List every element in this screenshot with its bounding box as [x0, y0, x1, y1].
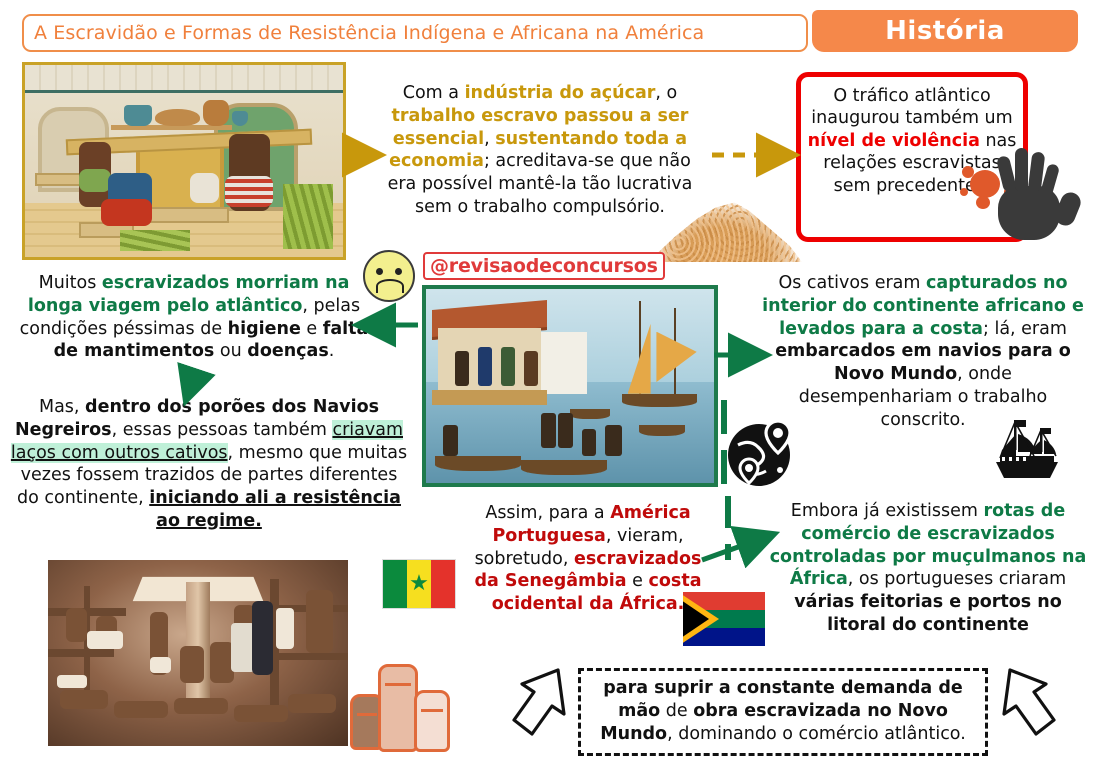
black-handprint-icon — [988, 148, 1074, 244]
resistance-text: Mas, dentro dos porões dos Navios Negrei… — [10, 396, 408, 533]
arrow-to-muslim-routes — [702, 537, 766, 560]
raised-fists-icon — [350, 650, 460, 750]
page-title: A Escravidão e Formas de Resistência Ind… — [24, 22, 704, 44]
demand-callout-box: para suprir a constante demanda de mão d… — [578, 668, 988, 756]
demand-text: para suprir a constante demanda de mão d… — [581, 671, 985, 745]
sugar-mill-engraving — [22, 62, 346, 260]
middle-passage-text: Muitos escravizados morriam na longa via… — [14, 272, 374, 363]
south-africa-flag — [683, 592, 765, 646]
watermark-text: @revisaodeconcursos — [430, 255, 658, 277]
globe-with-map-pins-icon — [724, 415, 798, 489]
sugar-industry-text: Com a indústria do açúcar, o trabalho es… — [384, 82, 696, 219]
watermark-handle: @revisaodeconcursos — [423, 252, 665, 280]
muslim-routes-text: Embora já existissem rotas de comércio d… — [768, 500, 1088, 637]
portuguese-america-text: Assim, para a América Portuguesa, vieram… — [466, 502, 710, 616]
senegal-flag: ★ — [383, 560, 455, 608]
slave-ship-hold-painting — [48, 560, 348, 746]
title-box: A Escravidão e Formas de Resistência Ind… — [22, 14, 808, 52]
colonial-harbor-painting — [422, 285, 718, 487]
arrow-to-resistance — [188, 370, 196, 394]
sailing-ship-icon — [978, 418, 1066, 490]
subject-badge: História — [812, 10, 1078, 52]
outline-arrow-up-right-icon — [992, 660, 1068, 746]
capture-text: Os cativos eram capturados no interior d… — [758, 272, 1088, 431]
subject-label: História — [885, 16, 1005, 46]
outline-arrow-up-left-icon — [500, 660, 576, 746]
page-header: A Escravidão e Formas de Resistência Ind… — [0, 0, 1100, 58]
